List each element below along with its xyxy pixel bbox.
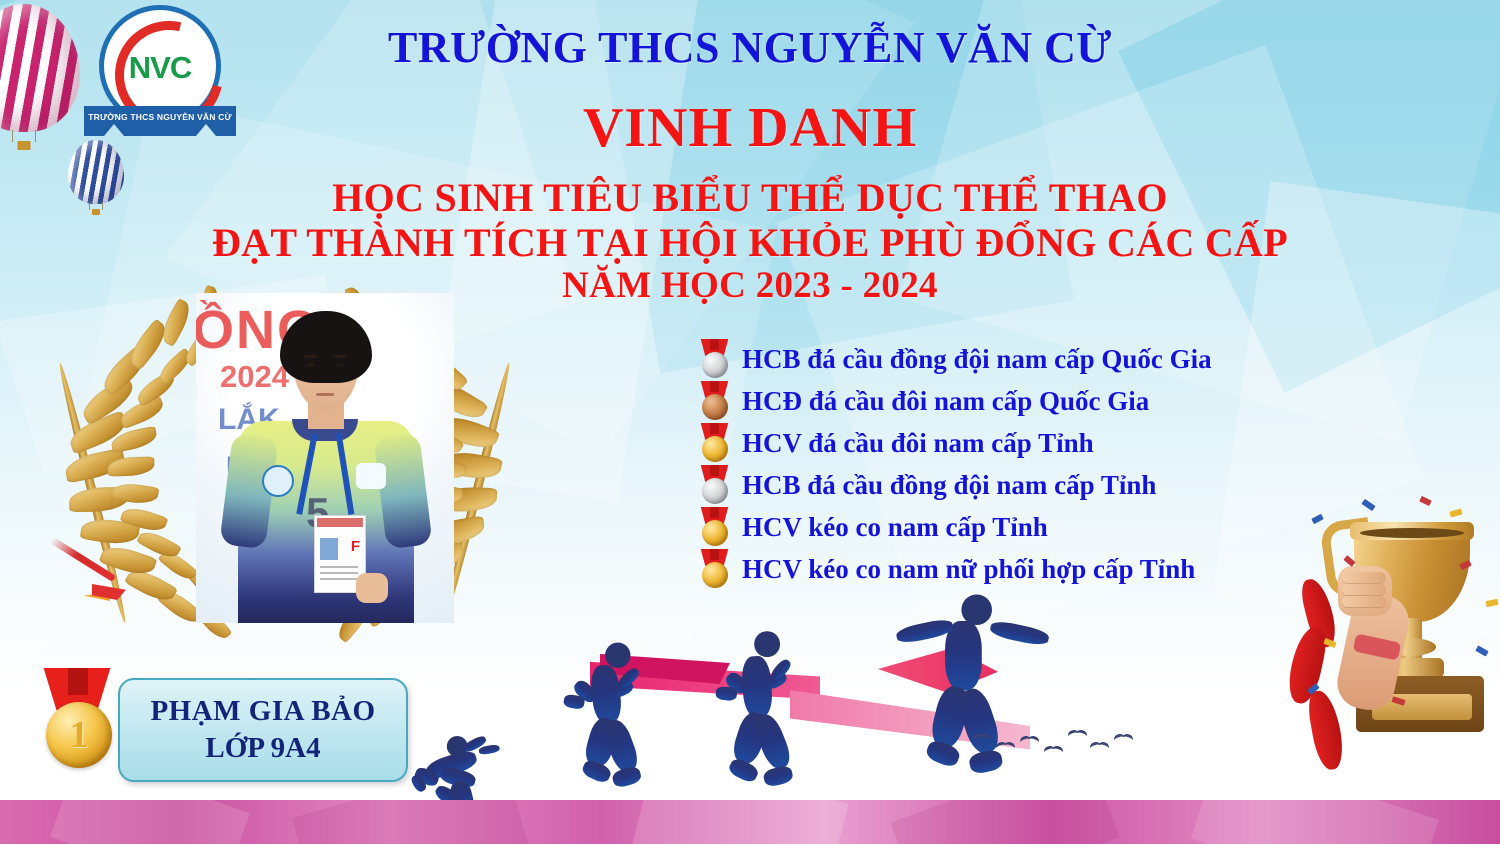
silver-medal-icon [698, 339, 732, 379]
bird-icon [1020, 736, 1039, 747]
subtitle-line-2: ĐẠT THÀNH TÍCH TẠI HỘI KHỎE PHÙ ĐỔNG CÁC… [0, 220, 1500, 265]
jersey-emblem [356, 463, 386, 489]
runner-limb [611, 765, 643, 789]
confetti-piece [1419, 496, 1432, 506]
achievement-text: HCB đá cầu đồng đội nam cấp Tỉnh [742, 470, 1156, 501]
bottom-decorative-band [0, 800, 1500, 844]
runner-head [605, 643, 630, 668]
bird-icon [1090, 742, 1109, 753]
gold-medal-icon [698, 423, 732, 463]
achievement-list: HCB đá cầu đồng đội nam cấp Quốc GiaHCĐ … [698, 338, 1338, 590]
subtitle-line-1: HỌC SINH TIÊU BIỂU THỂ DỤC THỂ THAO [0, 175, 1500, 220]
achievement-row: HCV kéo co nam nữ phối hợp cấp Tỉnh [698, 548, 1338, 590]
achievement-text: HCV kéo co nam nữ phối hợp cấp Tỉnh [742, 554, 1195, 585]
bird-icon [1068, 730, 1087, 741]
trophy-illustration [1300, 498, 1500, 800]
runner-limb [945, 621, 982, 690]
photo-mouth [316, 393, 334, 396]
confetti-piece [1311, 514, 1324, 524]
bird-icon [1114, 734, 1133, 745]
gold-medal-icon [698, 549, 732, 589]
achievement-text: HCB đá cầu đồng đội nam cấp Quốc Gia [742, 344, 1212, 375]
photo-backdrop-word: 2024 [220, 359, 289, 395]
red-arrow-icon [40, 548, 136, 620]
bronze-medal-icon [698, 381, 732, 421]
bird-icon [972, 734, 991, 745]
achievement-text: HCV kéo co nam cấp Tỉnh [742, 512, 1048, 543]
student-photo: ỒNG 2024 LẮK U 5 [196, 293, 454, 623]
photo-eye [306, 363, 315, 367]
confetti-piece [1475, 645, 1488, 656]
runner-limb [727, 756, 760, 784]
runner-limb [924, 738, 962, 769]
achievement-row: HCV kéo co nam cấp Tỉnh [698, 506, 1338, 548]
achievement-row: HCĐ đá cầu đôi nam cấp Quốc Gia [698, 380, 1338, 422]
student-photo-frame: ỒNG 2024 LẮK U 5 [196, 293, 454, 623]
achievement-text: HCV đá cầu đôi nam cấp Tỉnh [742, 428, 1094, 459]
confetti-piece [1449, 508, 1462, 517]
runner-limb [989, 619, 1050, 647]
runner-silhouette [560, 639, 720, 808]
runner-limb [580, 758, 613, 785]
trophy-rim [1350, 522, 1474, 540]
jersey-emblem [262, 465, 294, 497]
confetti-piece [1361, 499, 1375, 511]
photo-eyebrow [334, 355, 347, 358]
achievement-row: HCB đá cầu đồng đội nam cấp Quốc Gia [698, 338, 1338, 380]
runner-limb [762, 764, 794, 788]
silver-medal-icon [698, 465, 732, 505]
gold-medal-icon [698, 507, 732, 547]
runner-silhouettes [400, 596, 1100, 808]
runner-head [754, 631, 780, 657]
bird-icon [1044, 746, 1063, 757]
achievement-row: HCV đá cầu đôi nam cấp Tỉnh [698, 422, 1338, 464]
student-class: LỚP 9A4 [205, 732, 320, 765]
runner-silhouette [710, 631, 873, 804]
bird-icon [996, 742, 1015, 753]
page-title: VINH DANH [0, 96, 1500, 160]
photo-hand [356, 573, 388, 603]
runner-limb [715, 686, 737, 702]
achievement-row: HCB đá cầu đồng đội nam cấp Tỉnh [698, 464, 1338, 506]
confetti-piece [1486, 599, 1499, 607]
award-poster: NVC TRƯỜNG THCS NGUYỄN VĂN CỪ TRƯỜNG THC… [0, 0, 1500, 844]
school-name-heading: TRƯỜNG THCS NGUYỄN VĂN CỪ [0, 22, 1500, 73]
runner-silhouette [890, 592, 1063, 776]
student-name: PHẠM GIA BẢO [150, 695, 375, 728]
photo-eyebrow [304, 355, 317, 358]
student-name-badge: PHẠM GIA BẢO LỚP 9A4 [118, 678, 408, 782]
achievement-text: HCĐ đá cầu đôi nam cấp Quốc Gia [742, 386, 1149, 417]
gold-medal-icon [38, 668, 120, 778]
photo-eye [336, 363, 345, 367]
